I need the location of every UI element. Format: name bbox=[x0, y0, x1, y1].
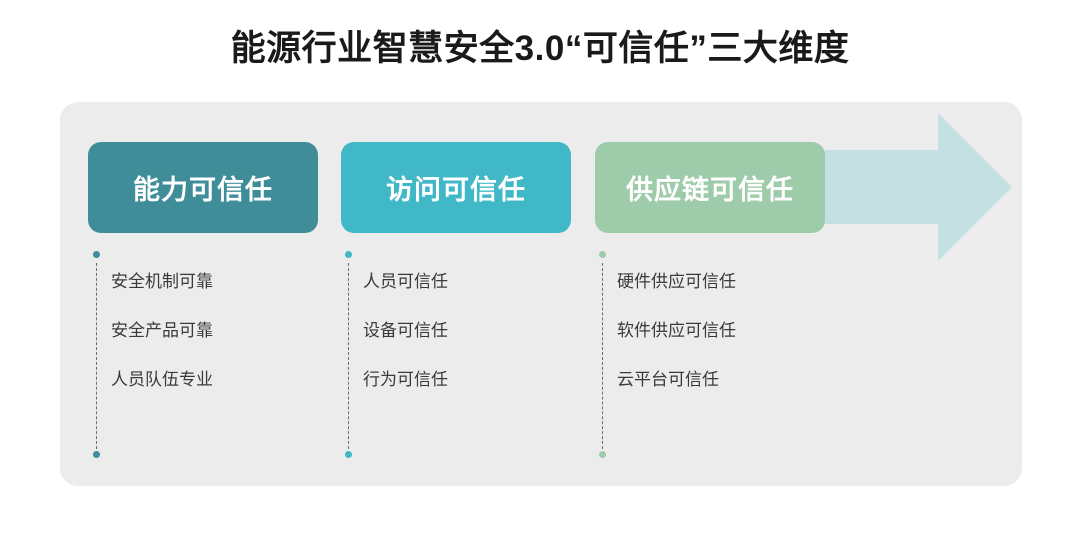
list-item: 安全机制可靠 bbox=[111, 273, 361, 290]
dimension-header-2[interactable]: 供应链可信任 bbox=[595, 142, 825, 233]
list-item: 硬件供应可信任 bbox=[617, 273, 867, 290]
list-item: 安全产品可靠 bbox=[111, 322, 361, 339]
right-arrow-icon bbox=[820, 110, 1015, 265]
column-dot-top bbox=[345, 251, 352, 258]
column-dashed-divider bbox=[602, 263, 603, 449]
dimension-item-list: 人员可信任 设备可信任 行为可信任 bbox=[363, 273, 613, 420]
dimension-header-label: 供应链可信任 bbox=[626, 168, 794, 207]
dimension-header-label: 访问可信任 bbox=[386, 168, 526, 207]
dimension-header-label: 能力可信任 bbox=[133, 168, 273, 207]
list-item: 行为可信任 bbox=[363, 371, 613, 388]
column-dot-top bbox=[599, 251, 606, 258]
list-item: 人员队伍专业 bbox=[111, 371, 361, 388]
column-dot-bottom bbox=[599, 451, 606, 458]
page-title: 能源行业智慧安全3.0“可信任”三大维度 bbox=[0, 20, 1080, 71]
column-dashed-divider bbox=[96, 263, 97, 449]
dimension-header-0[interactable]: 能力可信任 bbox=[88, 142, 318, 233]
dimension-item-list: 安全机制可靠 安全产品可靠 人员队伍专业 bbox=[111, 273, 361, 420]
dimension-header-1[interactable]: 访问可信任 bbox=[341, 142, 571, 233]
list-item: 人员可信任 bbox=[363, 273, 613, 290]
list-item: 云平台可信任 bbox=[617, 371, 867, 388]
list-item: 设备可信任 bbox=[363, 322, 613, 339]
column-dot-top bbox=[93, 251, 100, 258]
column-dashed-divider bbox=[348, 263, 349, 449]
list-item: 软件供应可信任 bbox=[617, 322, 867, 339]
column-dot-bottom bbox=[93, 451, 100, 458]
dimension-item-list: 硬件供应可信任 软件供应可信任 云平台可信任 bbox=[617, 273, 867, 420]
slide-canvas: 能源行业智慧安全3.0“可信任”三大维度 能力可信任 访问可信任 供应链可信任 … bbox=[0, 0, 1080, 547]
column-dot-bottom bbox=[345, 451, 352, 458]
